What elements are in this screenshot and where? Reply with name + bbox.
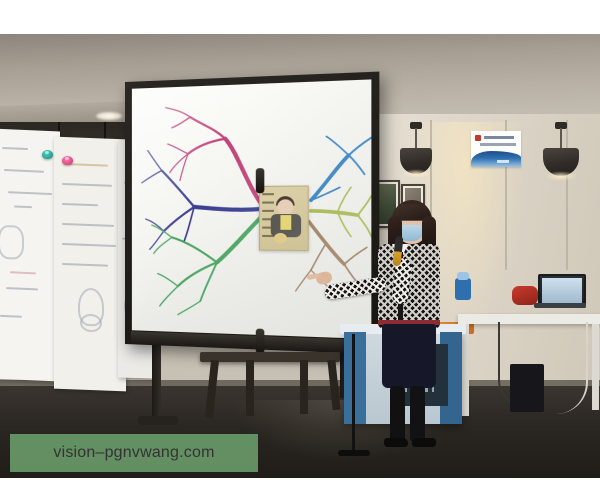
whiteboard-side-button-lower[interactable] bbox=[256, 329, 265, 354]
blue-decor-object bbox=[455, 278, 471, 300]
letterbox-bar-top bbox=[0, 0, 600, 34]
desk-leg bbox=[592, 324, 599, 410]
interactive-whiteboard[interactable] bbox=[125, 72, 379, 355]
handwriting-line bbox=[62, 203, 98, 206]
microphone-stand-base bbox=[338, 450, 370, 456]
wall-panel-seam bbox=[566, 120, 568, 270]
whiteboard-leg bbox=[152, 334, 161, 420]
poster-text-line bbox=[484, 136, 514, 139]
handwriting-line bbox=[62, 243, 116, 247]
handwriting-line bbox=[8, 191, 52, 195]
bench-leg bbox=[246, 360, 254, 416]
whiteboard-foot bbox=[138, 416, 178, 425]
flipchart-sheet bbox=[54, 137, 126, 392]
laptop-keyboard[interactable] bbox=[534, 303, 586, 308]
pendant-lamp-4-cord bbox=[560, 128, 562, 150]
laptop-screen bbox=[542, 278, 582, 304]
bench-leg bbox=[300, 360, 308, 414]
poster-wave-graphic bbox=[471, 151, 521, 167]
handwriting-line bbox=[14, 205, 32, 208]
presenter bbox=[368, 200, 448, 450]
handwriting-line bbox=[0, 315, 22, 318]
screenshot-root: vision–pgnvwang.com bbox=[0, 0, 600, 480]
wooden-bench bbox=[200, 352, 340, 362]
wall-poster bbox=[471, 131, 521, 167]
magnet-teal[interactable] bbox=[42, 150, 53, 159]
presenter-skirt bbox=[382, 324, 436, 388]
handwriting-diagram bbox=[80, 314, 102, 333]
whiteboard-glare bbox=[132, 79, 372, 339]
pendant-lamp-3-cord bbox=[415, 128, 417, 150]
magnet-pink[interactable] bbox=[62, 156, 73, 165]
presenter-leg-left bbox=[390, 386, 405, 442]
handwriting-line bbox=[62, 223, 114, 227]
handwriting-diagram bbox=[0, 225, 24, 260]
watermark-banner: vision–pgnvwang.com bbox=[10, 434, 258, 472]
handwriting-line bbox=[4, 169, 44, 173]
flipchart-sheet bbox=[0, 129, 60, 382]
handwriting-line bbox=[2, 147, 28, 150]
recessed-downlight bbox=[96, 112, 122, 120]
poster-logo-icon bbox=[475, 135, 481, 141]
whiteboard-side-button[interactable] bbox=[256, 168, 265, 193]
pendant-lamp-3-glow bbox=[402, 169, 430, 178]
presenter-leg-right bbox=[410, 386, 425, 442]
pendant-lamp-4-glow bbox=[545, 171, 577, 181]
speaker-box bbox=[510, 364, 544, 412]
desk-leg bbox=[462, 324, 469, 416]
poster-badge bbox=[497, 160, 509, 163]
microphone-stand bbox=[352, 334, 355, 454]
presenter-shoe-right bbox=[412, 438, 436, 447]
presenter-shoe-left bbox=[384, 438, 408, 447]
handwriting-line bbox=[62, 263, 108, 267]
handwriting-line bbox=[6, 287, 38, 290]
podium-accent-left bbox=[344, 332, 366, 424]
handwriting-line bbox=[10, 271, 36, 274]
whiteboard-surface[interactable] bbox=[132, 79, 372, 339]
blue-decor-object-top bbox=[457, 272, 469, 280]
photograph bbox=[0, 34, 600, 478]
watermark-text: vision–pgnvwang.com bbox=[53, 444, 214, 462]
poster-text-line bbox=[480, 143, 516, 146]
red-bag bbox=[512, 286, 538, 305]
handwriting-line bbox=[62, 183, 112, 187]
